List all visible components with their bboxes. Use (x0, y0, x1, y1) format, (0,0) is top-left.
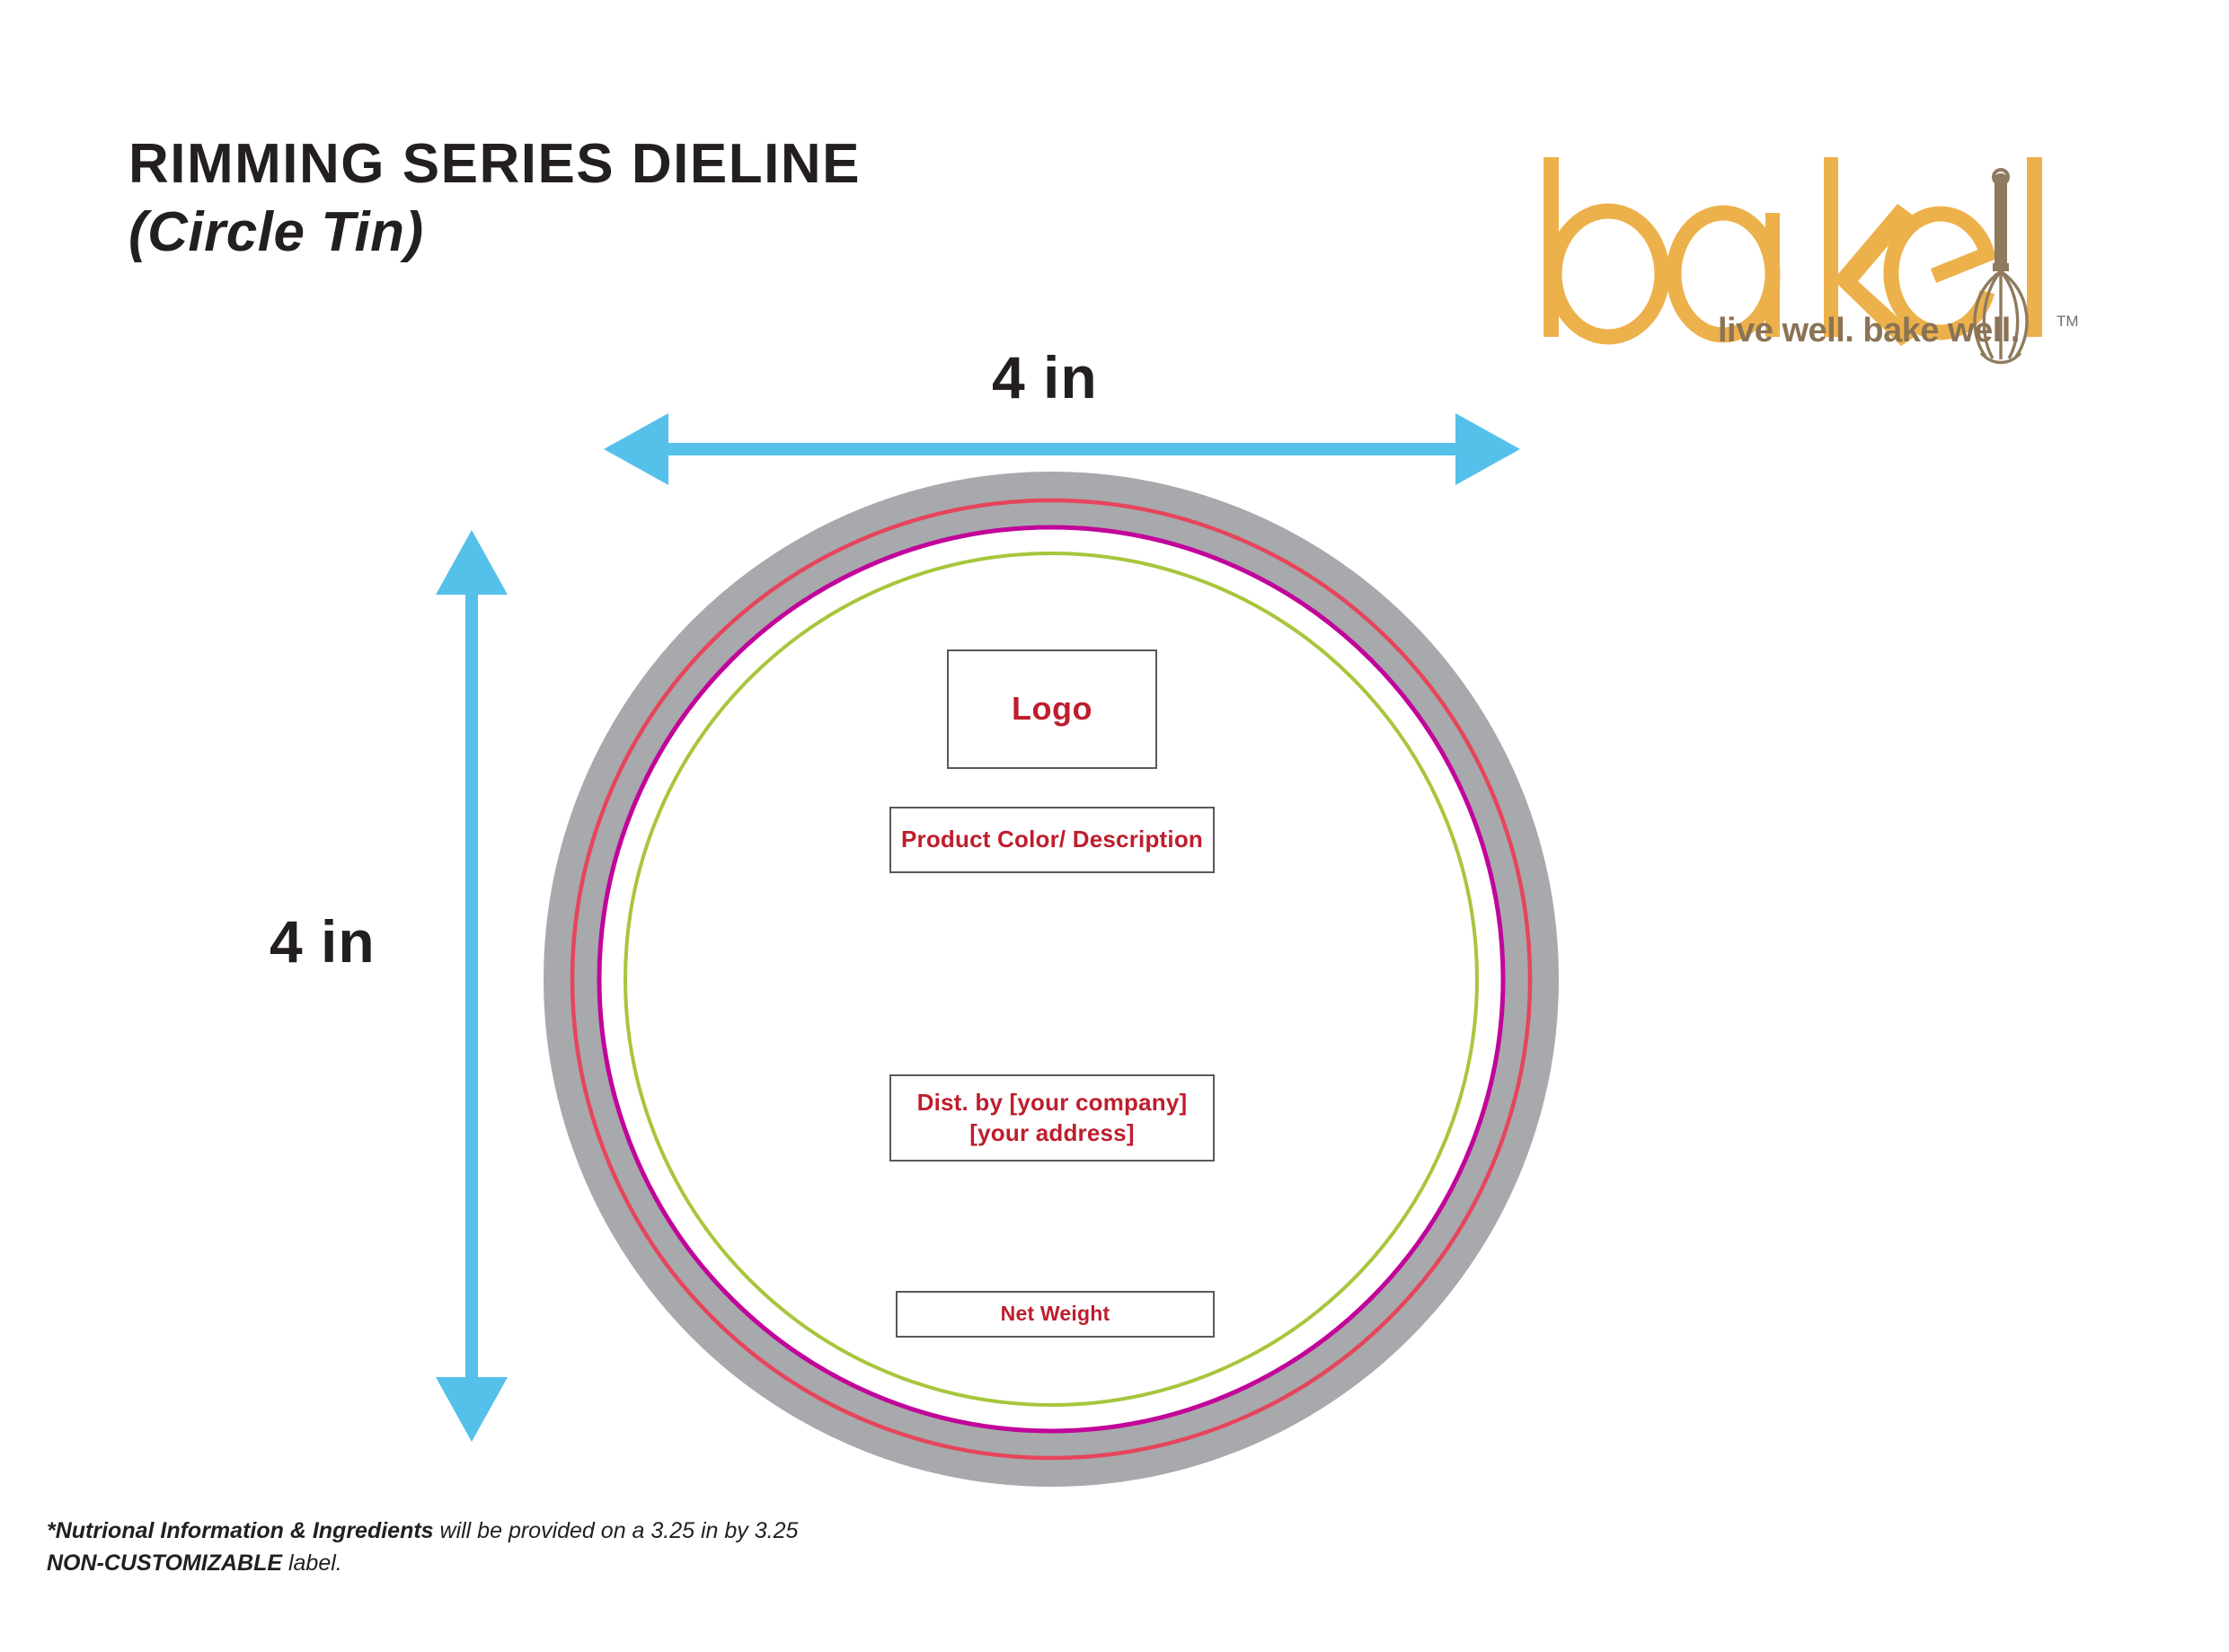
product-description-label: Product Color/ Description (901, 825, 1203, 855)
page-title: RIMMING SERIES DIELINE (128, 135, 1296, 195)
logo-trademark: TM (2057, 313, 2079, 330)
logo-placeholder-box[interactable]: Logo (947, 649, 1157, 769)
distributor-lines: Dist. by [your company] [your address] (917, 1088, 1188, 1149)
footnote-part-3: NON-CUSTOMIZABLE (47, 1550, 282, 1576)
page-subtitle: (Circle Tin) (128, 200, 1296, 264)
footnote-part-1: *Nutrional Information & Ingredients (47, 1518, 434, 1543)
distributor-company-line: Dist. by [your company] (917, 1088, 1188, 1118)
logo-placeholder-label: Logo (1012, 688, 1092, 730)
distributor-box[interactable]: Dist. by [your company] [your address] (889, 1074, 1215, 1162)
net-weight-box[interactable]: Net Weight (896, 1291, 1215, 1338)
footnote: *Nutrional Information & Ingredients wil… (47, 1515, 855, 1580)
logo-tagline: live well. bake well. (1718, 312, 2020, 349)
net-weight-label: Net Weight (1001, 1301, 1110, 1328)
width-dimension-label: 4 in (992, 343, 1098, 411)
footnote-part-2: will be provided on a 3.25 in by 3.25 (434, 1518, 799, 1543)
footnote-part-4: label. (282, 1550, 342, 1576)
distributor-address-line: [your address] (917, 1118, 1188, 1149)
height-dimension-arrow (431, 530, 512, 1442)
product-description-box[interactable]: Product Color/ Description (889, 807, 1215, 873)
height-dimension-label: 4 in (270, 907, 376, 976)
circle-tin-dieline (536, 464, 1566, 1494)
title-block: RIMMING SERIES DIELINE (Circle Tin) (128, 135, 1296, 264)
bakell-logo: live well. bake well. TM bakell live wel… (1527, 148, 2084, 373)
